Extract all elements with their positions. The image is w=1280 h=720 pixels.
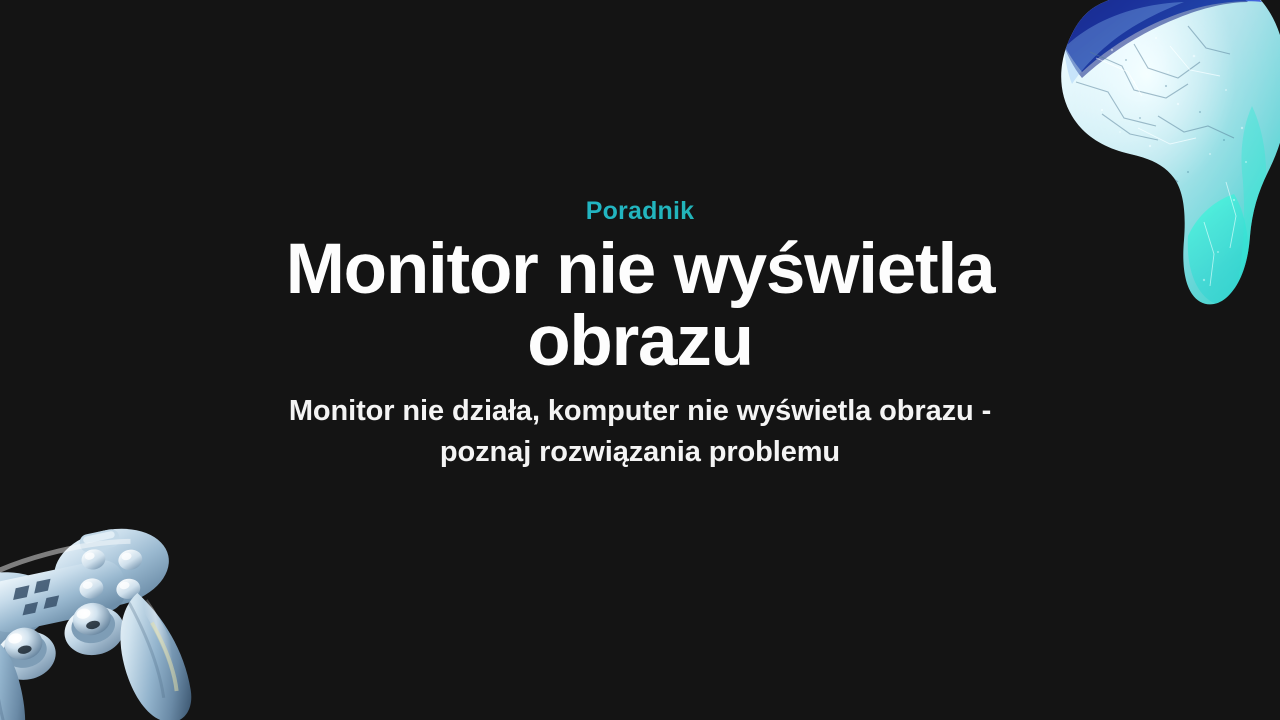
crystal-blob-icon bbox=[1038, 0, 1280, 326]
page-title: Monitor nie wyświetla obrazu bbox=[220, 234, 1060, 379]
page-subtitle: Monitor nie działa, komputer nie wyświet… bbox=[275, 391, 1005, 473]
gamepad-icon bbox=[0, 514, 248, 720]
eyebrow-label: Poradnik bbox=[220, 196, 1060, 226]
hero-banner: Poradnik Monitor nie wyświetla obrazu Mo… bbox=[0, 0, 1280, 720]
hero-content: Poradnik Monitor nie wyświetla obrazu Mo… bbox=[220, 196, 1060, 473]
